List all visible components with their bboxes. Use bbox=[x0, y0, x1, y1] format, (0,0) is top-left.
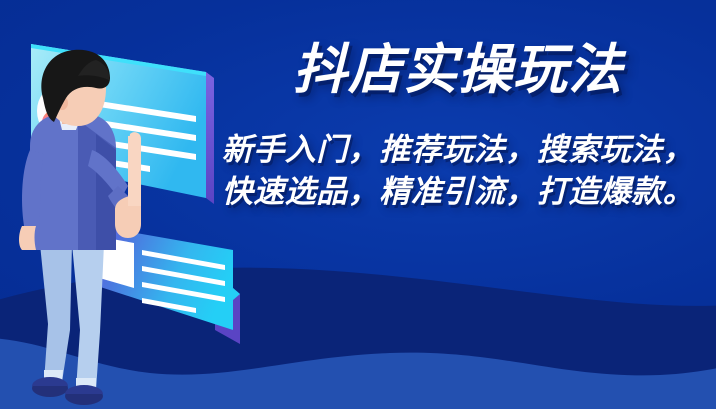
page-subtitle: 新手入门，推荐玩法，搜索玩法，快速选品，精准引流，打造爆款。 bbox=[212, 129, 704, 213]
text-block: 抖店实操玩法 新手入门，推荐玩法，搜索玩法，快速选品，精准引流，打造爆款。 bbox=[212, 42, 704, 214]
course-promo-banner: 抖店实操玩法 新手入门，推荐玩法，搜索玩法，快速选品，精准引流，打造爆款。 bbox=[0, 0, 716, 409]
page-title: 抖店实操玩法 bbox=[212, 42, 704, 99]
